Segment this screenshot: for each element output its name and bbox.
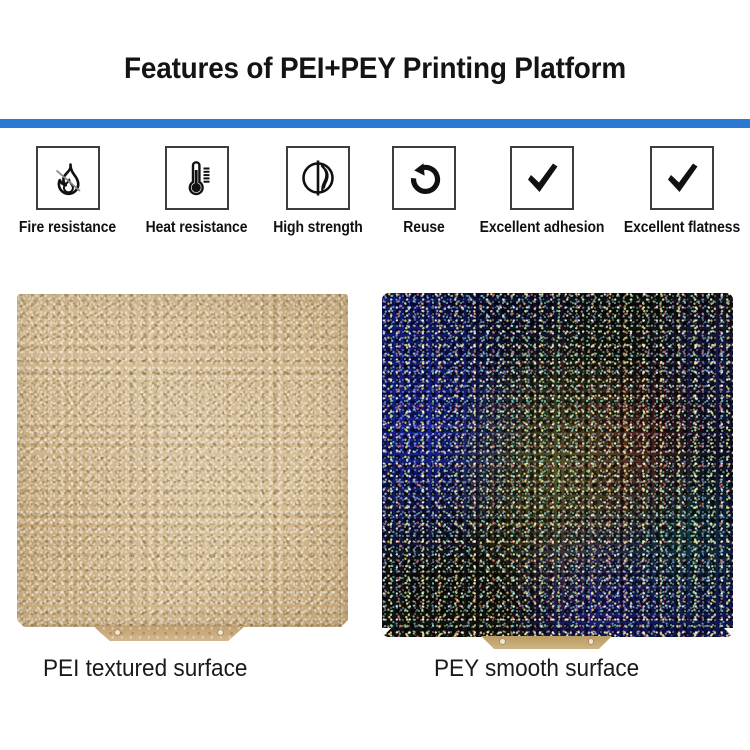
pei-plate-tab bbox=[93, 626, 245, 641]
pei-plate-caption: PEI textured surface bbox=[43, 655, 247, 683]
pei-tab-hole-left bbox=[115, 630, 120, 635]
pey-tab-hole-right bbox=[589, 639, 594, 644]
pei-textured-surface bbox=[17, 294, 348, 627]
pei-tab-hole-right bbox=[218, 630, 223, 635]
pey-plate-tab bbox=[481, 636, 612, 649]
pey-smooth-surface bbox=[382, 293, 733, 637]
plate-comparison: PEI textured surface PEY smooth surface bbox=[0, 0, 750, 750]
pey-build-plate-image bbox=[382, 293, 733, 637]
pei-build-plate-image bbox=[17, 294, 348, 627]
pey-tab-hole-left bbox=[500, 639, 505, 644]
pey-plate-caption: PEY smooth surface bbox=[434, 655, 639, 683]
